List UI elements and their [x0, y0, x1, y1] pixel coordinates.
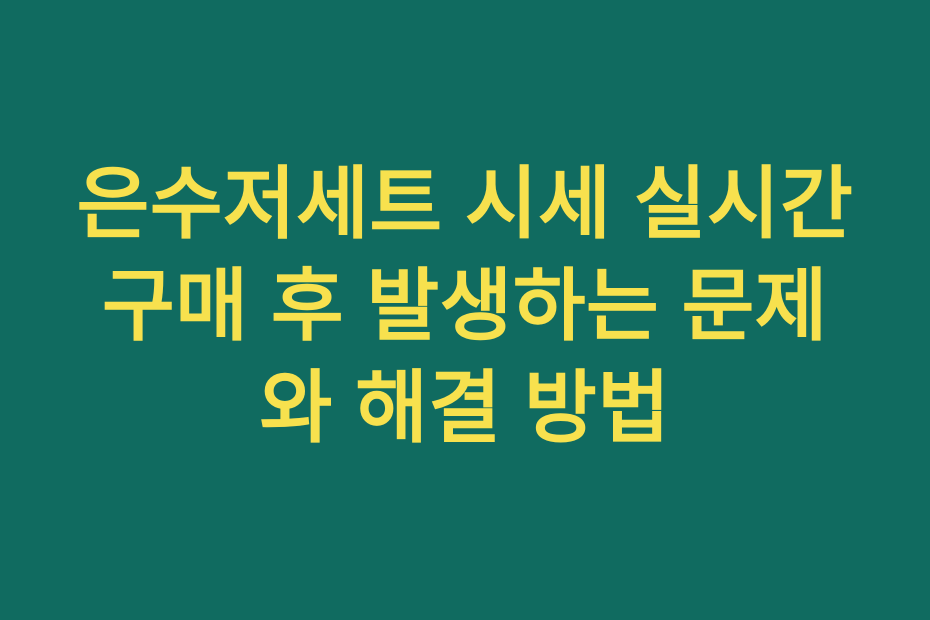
- title-line-3: 와 해결 방법: [24, 357, 906, 459]
- title-line-2: 구매 후 발생하는 문제: [24, 255, 906, 357]
- page-title: 은수저세트 시세 실시간 구매 후 발생하는 문제 와 해결 방법: [0, 153, 930, 459]
- title-card: 은수저세트 시세 실시간 구매 후 발생하는 문제 와 해결 방법: [0, 0, 930, 620]
- title-line-1: 은수저세트 시세 실시간: [24, 153, 906, 255]
